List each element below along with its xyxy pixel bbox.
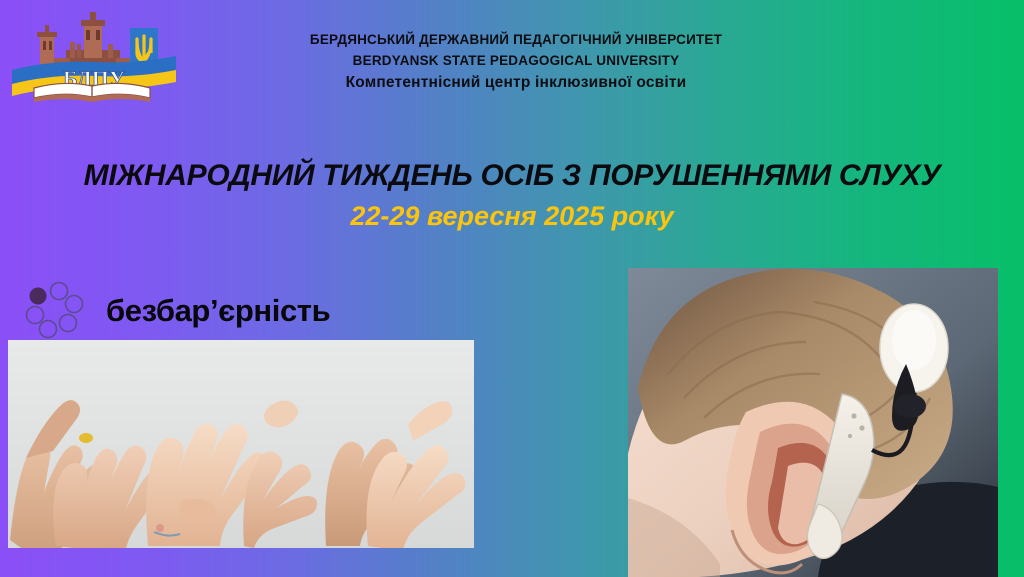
page-title: МІЖНАРОДНИЙ ТИЖДЕНЬ ОСІБ З ПОРУШЕННЯМИ С…	[0, 158, 1024, 194]
header-line-center-name: Компетентнісний центр інклюзивної освіти	[196, 71, 836, 94]
university-logo: БДПУ	[8, 8, 180, 104]
barrier-free-dots-icon	[24, 282, 86, 340]
logo-open-book-icon	[34, 83, 150, 102]
header-line-english-university: BERDYANSK STATE PEDAGOGICAL UNIVERSITY	[196, 50, 836, 71]
barrier-free-label: безбар’єрність	[106, 293, 330, 329]
sign-language-hands-photo	[8, 340, 474, 548]
presentation-slide: БДПУ БЕРДЯНСЬКИЙ ДЕРЖАВНИЙ ПЕДАГОГІЧНИЙ …	[0, 0, 1024, 577]
event-date: 22-29 вересня 2025 року	[0, 200, 1024, 232]
event-title-block: МІЖНАРОДНИЙ ТИЖДЕНЬ ОСІБ З ПОРУШЕННЯМИ С…	[0, 158, 1024, 232]
hearing-aid-ear-photo	[628, 268, 998, 577]
barrier-free-badge: безбар’єрність	[24, 282, 330, 340]
institution-header: БЕРДЯНСЬКИЙ ДЕРЖАВНИЙ ПЕДАГОГІЧНИЙ УНІВЕ…	[196, 30, 836, 94]
header-line-ukrainian-university: БЕРДЯНСЬКИЙ ДЕРЖАВНИЙ ПЕДАГОГІЧНИЙ УНІВЕ…	[196, 30, 836, 50]
